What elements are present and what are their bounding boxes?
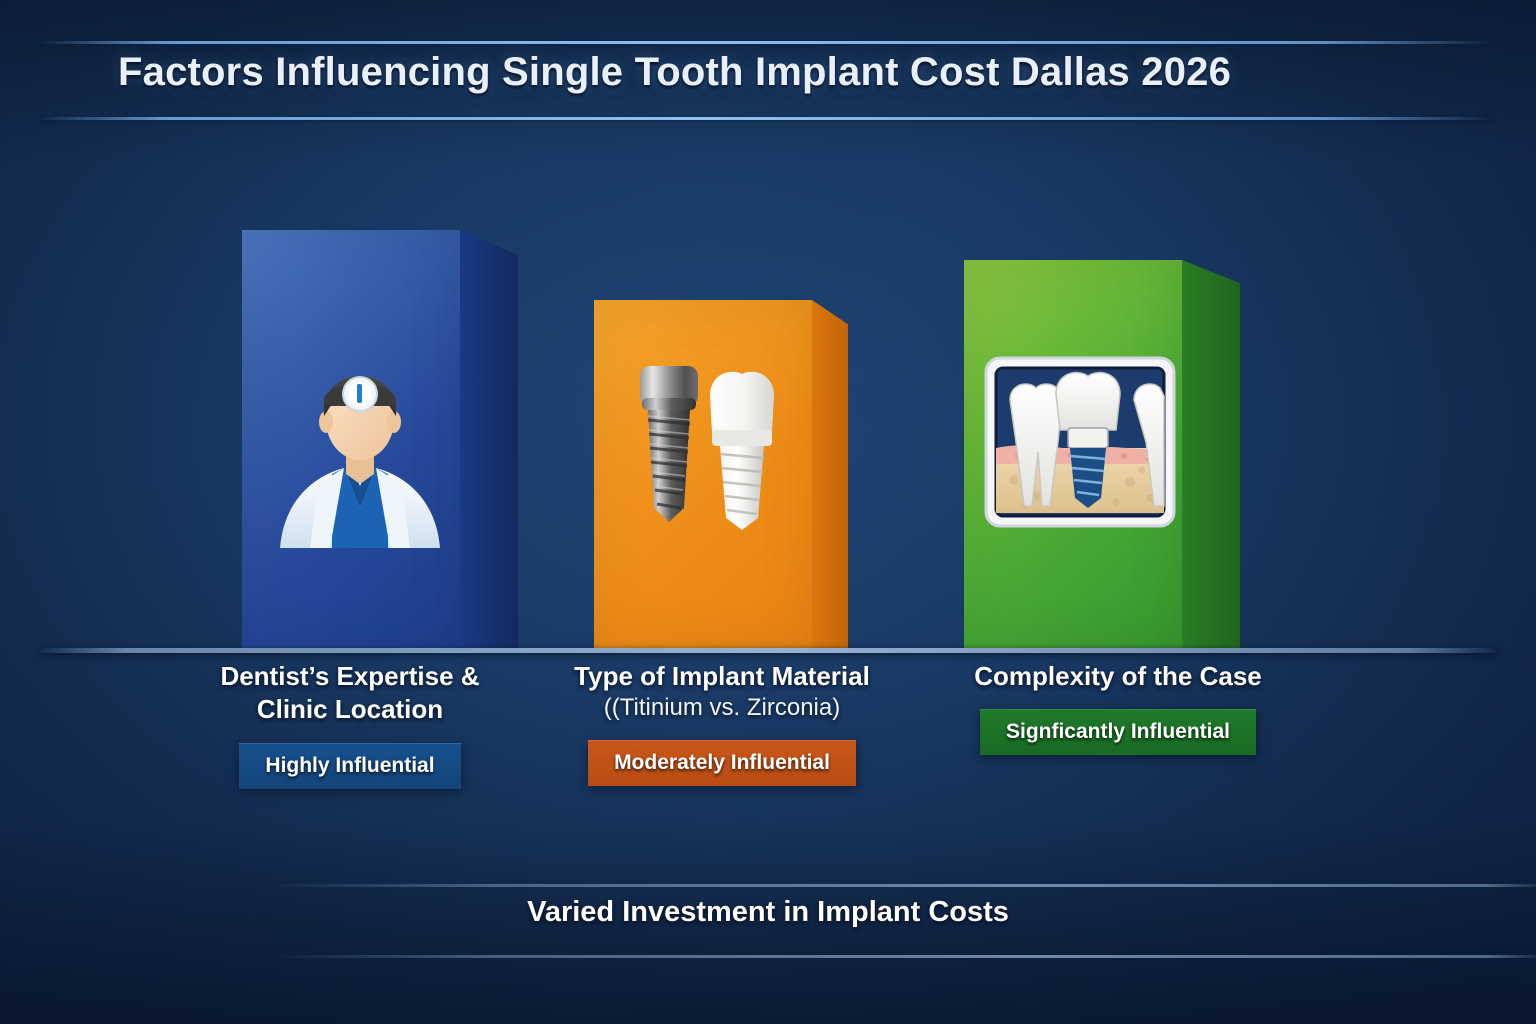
category-case-complexity: Complexity of the Case Signficantly Infl… <box>898 660 1338 755</box>
category-labels: Dentist’s Expertise & Clinic Location Hi… <box>0 660 1536 860</box>
title-rule-bottom <box>40 117 1492 120</box>
category-implant-material: Type of Implant Material ((Titinium vs. … <box>522 660 922 786</box>
footer-rule-top <box>270 884 1536 887</box>
category-label-line1: Dentist’s Expertise & <box>150 660 550 693</box>
category-label-line2: ((Titinium vs. Zirconia) <box>522 693 922 724</box>
footer-rule-bottom <box>270 955 1536 958</box>
infographic-canvas: Factors Influencing Single Tooth Implant… <box>0 0 1536 1024</box>
bar-side-face <box>460 230 518 648</box>
category-label-line1: Type of Implant Material <box>522 660 922 693</box>
category-label-line2: Clinic Location <box>150 693 550 726</box>
footer-block: Varied Investment in Implant Costs <box>0 860 1536 1024</box>
title-block: Factors Influencing Single Tooth Implant… <box>0 0 1536 130</box>
status-badge-moderately-influential: Moderately Influential <box>588 740 856 786</box>
status-badge-significantly-influential: Signficantly Influential <box>980 709 1256 755</box>
bar-chart <box>0 130 1536 660</box>
dental-implant-screws-icon <box>612 358 802 538</box>
footer-caption: Varied Investment in Implant Costs <box>0 896 1536 929</box>
page-title: Factors Influencing Single Tooth Implant… <box>118 50 1418 95</box>
chart-baseline <box>40 648 1496 653</box>
bar-side-face <box>1182 260 1240 648</box>
category-label-line1: Complexity of the Case <box>898 660 1338 693</box>
implant-xray-illustration-icon <box>984 356 1176 528</box>
bar-side-face <box>812 300 848 648</box>
category-dentist-expertise: Dentist’s Expertise & Clinic Location Hi… <box>150 660 550 789</box>
title-rule-top <box>40 41 1492 44</box>
dentist-avatar-icon <box>270 358 450 548</box>
status-badge-highly-influential: Highly Influential <box>239 743 460 789</box>
